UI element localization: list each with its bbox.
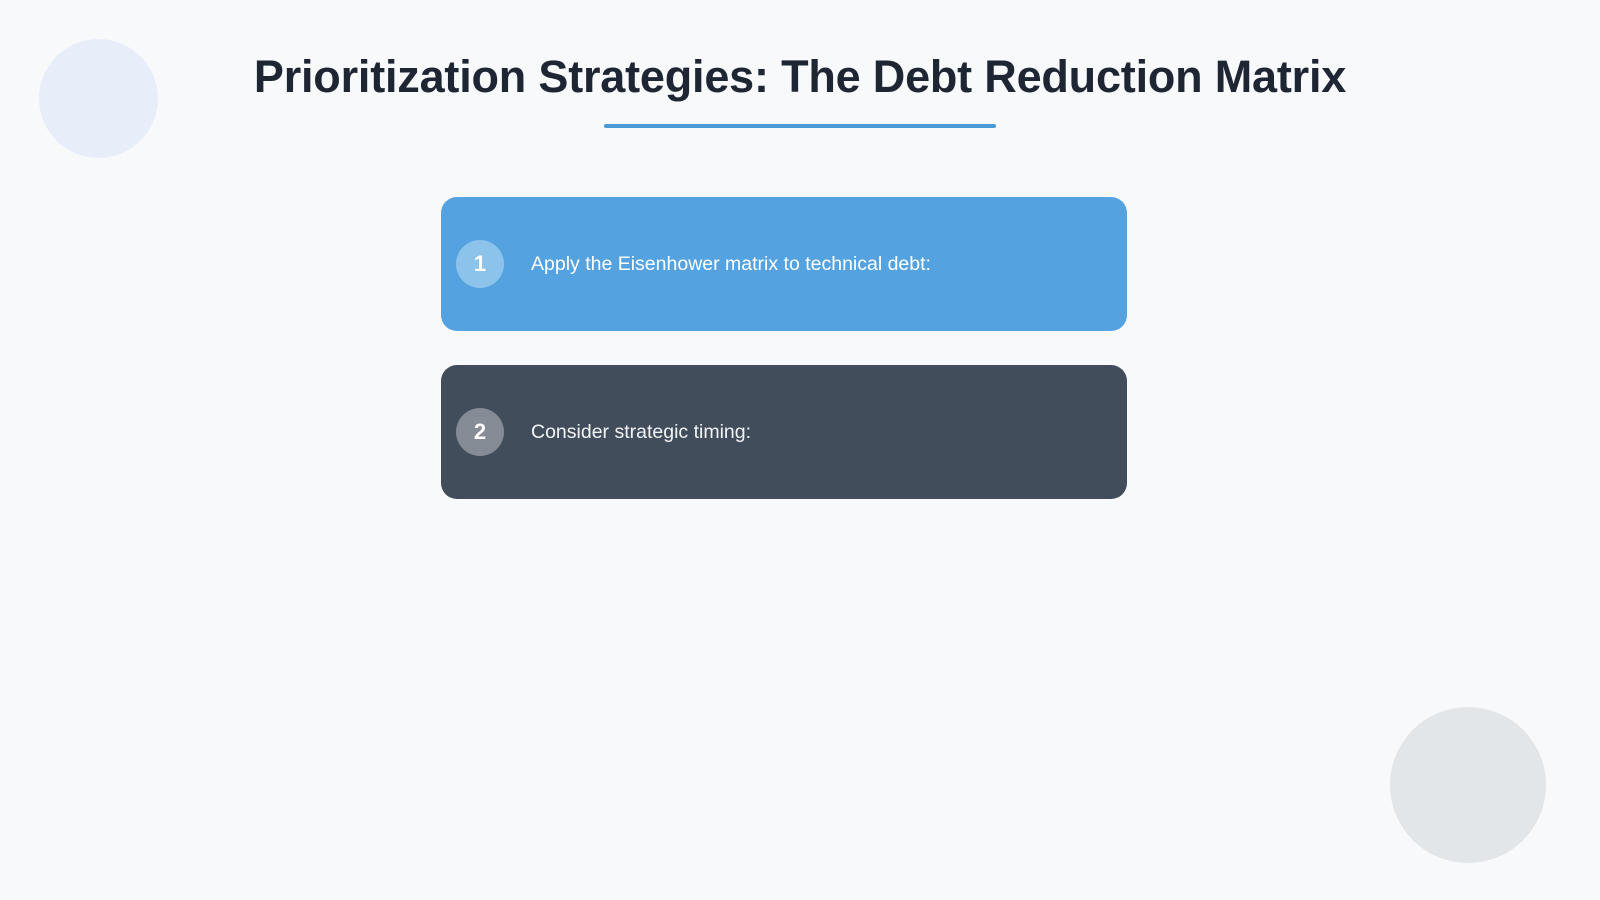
title-underline-accent	[604, 124, 996, 128]
strategy-card-2[interactable]: 2 Consider strategic timing:	[441, 365, 1127, 499]
card-text: Consider strategic timing:	[531, 419, 751, 445]
strategy-card-1[interactable]: 1 Apply the Eisenhower matrix to technic…	[441, 197, 1127, 331]
card-number-badge: 2	[456, 408, 504, 456]
card-number-badge: 1	[456, 240, 504, 288]
slide-header: Prioritization Strategies: The Debt Redu…	[0, 52, 1600, 128]
slide-canvas: Prioritization Strategies: The Debt Redu…	[0, 0, 1600, 900]
strategy-card-list: 1 Apply the Eisenhower matrix to technic…	[441, 197, 1127, 499]
card-text: Apply the Eisenhower matrix to technical…	[531, 251, 931, 277]
page-title: Prioritization Strategies: The Debt Redu…	[0, 52, 1600, 102]
decorative-circle-bottom-right	[1390, 707, 1546, 863]
